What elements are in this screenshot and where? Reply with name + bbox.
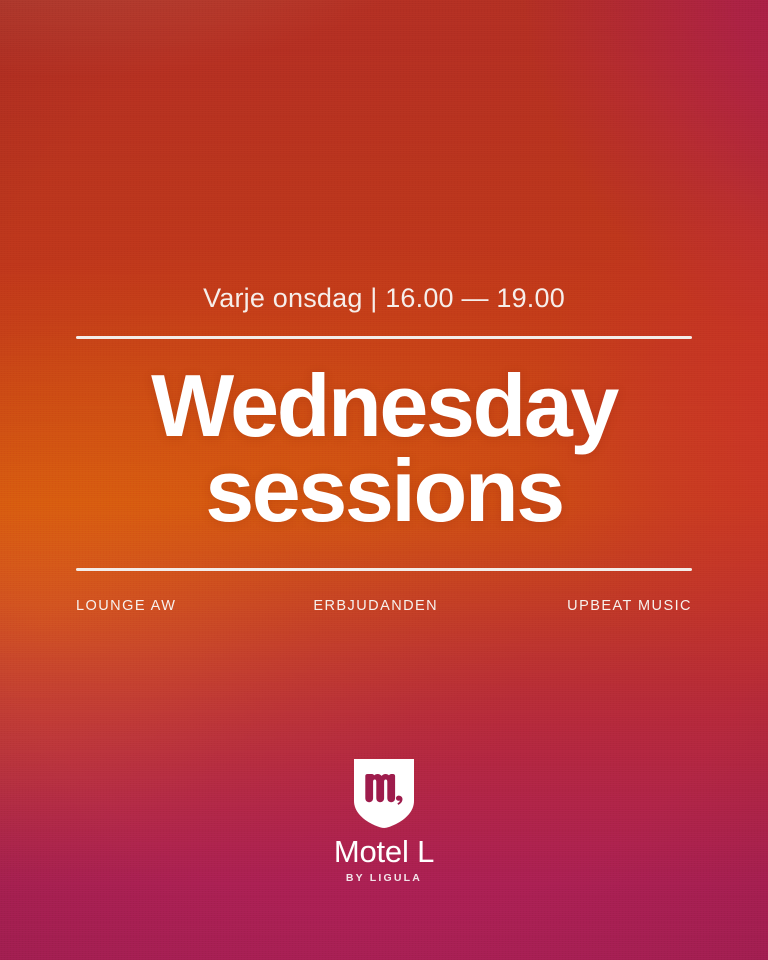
feature-label-music: UPBEAT MUSIC xyxy=(567,598,692,614)
feature-label-offers: ERBJUDANDEN xyxy=(313,598,438,614)
poster: Varje onsdag | 16.00 — 19.00 Wednesday s… xyxy=(0,0,768,960)
headline-line-1: Wednesday xyxy=(151,363,617,448)
feature-labels: LOUNGE AW ERBJUDANDEN UPBEAT MUSIC xyxy=(76,598,692,614)
event-schedule-text: Varje onsdag | 16.00 — 19.00 xyxy=(203,283,565,314)
feature-label-lounge: LOUNGE AW xyxy=(76,598,176,614)
page-title: Wednesday sessions xyxy=(151,363,617,534)
headline-line-2: sessions xyxy=(151,448,617,533)
poster-content: Varje onsdag | 16.00 — 19.00 Wednesday s… xyxy=(0,0,768,960)
divider-top xyxy=(76,336,692,339)
divider-bottom xyxy=(76,568,692,571)
